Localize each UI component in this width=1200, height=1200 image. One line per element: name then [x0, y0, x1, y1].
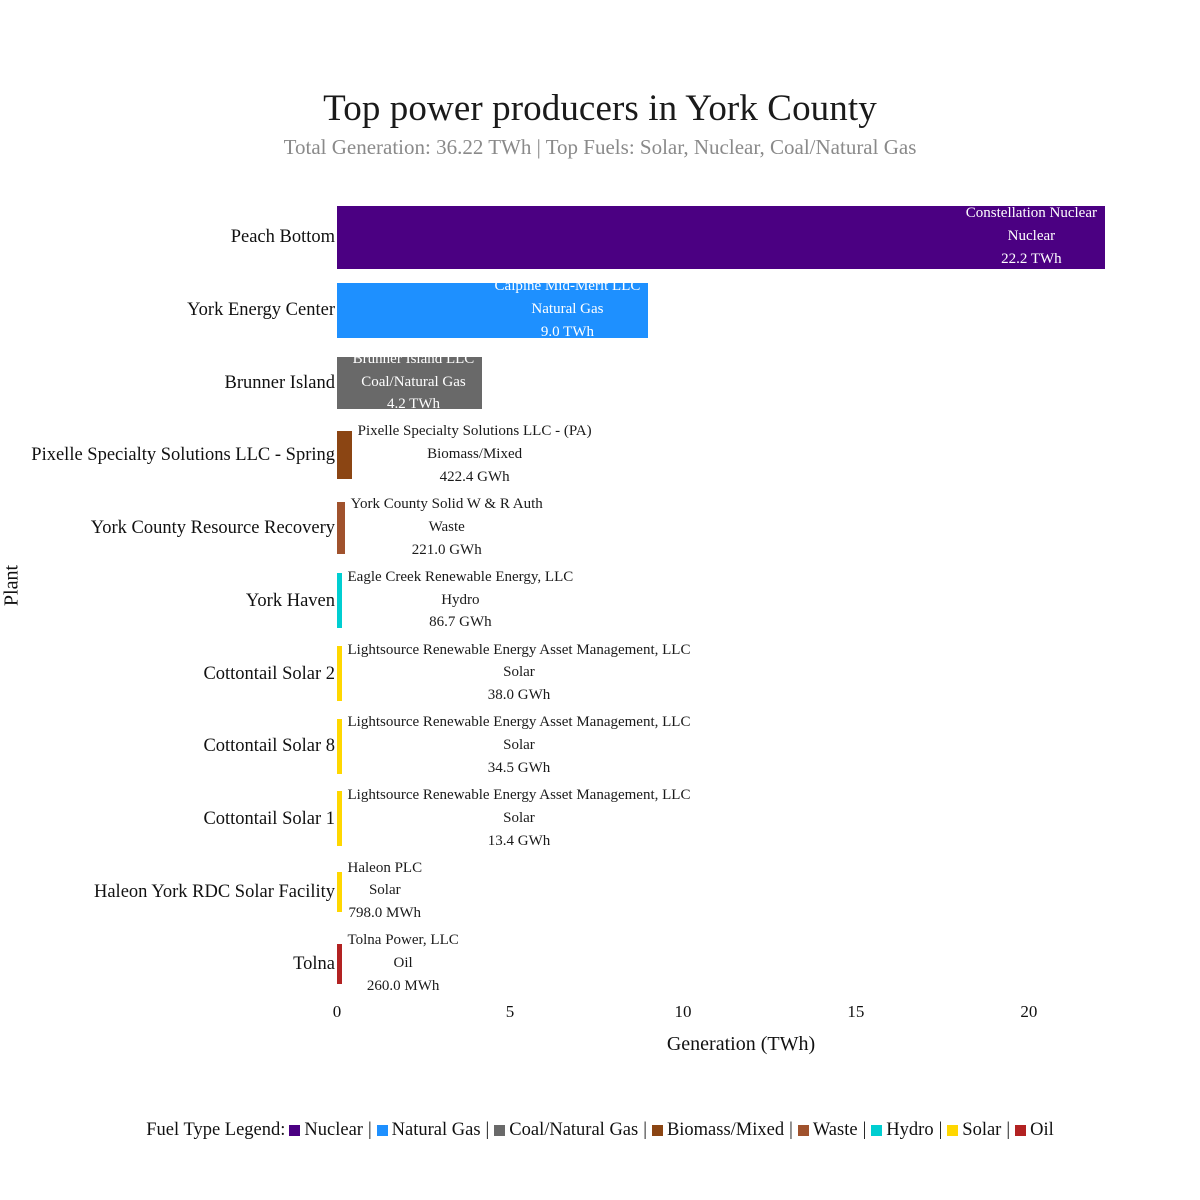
chart-bar[interactable] — [337, 206, 1105, 269]
bar-operator-label: Pixelle Specialty Solutions LLC - (PA) — [358, 420, 592, 443]
y-axis-title: Plant — [1, 556, 24, 616]
legend-item-biomass-mixed[interactable]: Biomass/Mixed — [652, 1120, 784, 1140]
x-axis-tick-label: 15 — [847, 1002, 864, 1022]
x-axis-tick-label: 10 — [674, 1002, 691, 1022]
chart-bar[interactable] — [337, 791, 342, 846]
legend-swatch-icon — [289, 1125, 300, 1136]
bar-annotation: Tolna Power, LLCOil260.0 MWh — [348, 929, 459, 997]
chart-plot-area: Peach BottomConstellation NuclearNuclear… — [0, 0, 1200, 1200]
bar-fuel-label: Solar — [348, 879, 423, 902]
chart-bar[interactable] — [337, 431, 352, 479]
legend-item-nuclear[interactable]: Nuclear — [289, 1120, 363, 1140]
bar-operator-label: York County Solid W & R Auth — [351, 493, 543, 516]
bar-operator-label: Tolna Power, LLC — [348, 929, 459, 952]
bar-value-label: 422.4 GWh — [358, 466, 592, 489]
legend-separator: | — [939, 1120, 943, 1140]
legend-item-label: Coal/Natural Gas — [509, 1120, 638, 1140]
bar-operator-label: Lightsource Renewable Energy Asset Manag… — [348, 711, 691, 734]
chart-bar[interactable] — [337, 944, 342, 984]
bar-fuel-label: Biomass/Mixed — [358, 443, 592, 466]
bar-annotation: Haleon PLCSolar798.0 MWh — [348, 857, 423, 925]
bar-fuel-label: Solar — [348, 734, 691, 757]
legend-item-natural-gas[interactable]: Natural Gas — [377, 1120, 481, 1140]
chart-bar[interactable] — [337, 719, 342, 774]
legend-separator: | — [789, 1120, 793, 1140]
y-axis-tick-label: York Energy Center — [187, 301, 335, 320]
legend-swatch-icon — [652, 1125, 663, 1136]
x-axis-title-text: Generation (TWh) — [667, 1033, 815, 1056]
bar-fuel-label: Oil — [348, 952, 459, 975]
bar-operator-label: Lightsource Renewable Energy Asset Manag… — [348, 639, 691, 662]
bar-annotation: Lightsource Renewable Energy Asset Manag… — [348, 711, 691, 779]
bar-operator-label: Eagle Creek Renewable Energy, LLC — [348, 566, 574, 589]
legend-item-oil[interactable]: Oil — [1015, 1120, 1054, 1140]
legend-swatch-icon — [377, 1125, 388, 1136]
chart-bar[interactable] — [337, 283, 648, 338]
bar-operator-label: Haleon PLC — [348, 857, 423, 880]
y-axis-tick-label: Brunner Island — [225, 374, 335, 393]
y-axis-tick-label: Haleon York RDC Solar Facility — [94, 883, 335, 902]
legend-item-hydro[interactable]: Hydro — [871, 1120, 933, 1140]
legend-title: Fuel Type Legend: — [146, 1120, 285, 1140]
x-axis-title: Generation (TWh) — [0, 1033, 1200, 1056]
chart-bar[interactable] — [337, 872, 342, 912]
legend-item-label: Nuclear — [304, 1120, 363, 1140]
chart-bar[interactable] — [337, 573, 342, 628]
legend-separator: | — [1006, 1120, 1010, 1140]
legend-item-coal-natural-gas[interactable]: Coal/Natural Gas — [494, 1120, 638, 1140]
y-axis-tick-label: Peach Bottom — [231, 228, 335, 247]
bar-annotation: Lightsource Renewable Energy Asset Manag… — [348, 784, 691, 852]
legend-item-solar[interactable]: Solar — [947, 1120, 1001, 1140]
x-axis-tick-label: 20 — [1020, 1002, 1037, 1022]
bar-value-label: 798.0 MWh — [348, 902, 423, 925]
legend-swatch-icon — [798, 1125, 809, 1136]
legend-swatch-icon — [947, 1125, 958, 1136]
legend-item-label: Solar — [962, 1120, 1001, 1140]
legend-item-label: Waste — [813, 1120, 858, 1140]
bar-value-label: 221.0 GWh — [351, 539, 543, 562]
y-axis-tick-label: Cottontail Solar 8 — [203, 737, 335, 756]
bar-value-label: 260.0 MWh — [348, 975, 459, 998]
bar-fuel-label: Solar — [348, 661, 691, 684]
chart-bar[interactable] — [337, 357, 482, 409]
legend-separator: | — [863, 1120, 867, 1140]
legend-item-label: Natural Gas — [392, 1120, 481, 1140]
y-axis-tick-label: Pixelle Specialty Solutions LLC - Spring — [31, 446, 335, 465]
bar-value-label: 13.4 GWh — [348, 830, 691, 853]
y-axis-tick-label: York Haven — [246, 592, 335, 611]
bar-annotation: Pixelle Specialty Solutions LLC - (PA)Bi… — [358, 420, 592, 488]
bar-fuel-label: Hydro — [348, 589, 574, 612]
x-axis-tick-label: 0 — [333, 1002, 342, 1022]
bar-value-label: 38.0 GWh — [348, 684, 691, 707]
bar-value-label: 34.5 GWh — [348, 757, 691, 780]
bar-operator-label: Lightsource Renewable Energy Asset Manag… — [348, 784, 691, 807]
y-axis-tick-label: York County Resource Recovery — [91, 519, 335, 538]
x-axis-tick-label: 5 — [506, 1002, 515, 1022]
bar-fuel-label: Waste — [351, 516, 543, 539]
legend-swatch-icon — [1015, 1125, 1026, 1136]
legend-item-label: Oil — [1030, 1120, 1054, 1140]
bar-annotation: York County Solid W & R AuthWaste221.0 G… — [351, 493, 543, 561]
chart-bar[interactable] — [337, 646, 342, 701]
bar-annotation: Eagle Creek Renewable Energy, LLCHydro86… — [348, 566, 574, 634]
legend-separator: | — [643, 1120, 647, 1140]
fuel-type-legend: Fuel Type Legend:Nuclear|Natural Gas|Coa… — [0, 1120, 1200, 1141]
legend-separator: | — [368, 1120, 372, 1140]
legend-swatch-icon — [871, 1125, 882, 1136]
legend-item-waste[interactable]: Waste — [798, 1120, 858, 1140]
y-axis-tick-label: Cottontail Solar 2 — [203, 665, 335, 684]
legend-item-label: Biomass/Mixed — [667, 1120, 784, 1140]
bar-fuel-label: Solar — [348, 807, 691, 830]
bar-value-label: 86.7 GWh — [348, 611, 574, 634]
legend-item-label: Hydro — [886, 1120, 933, 1140]
y-axis-tick-label: Tolna — [293, 955, 335, 974]
legend-separator: | — [486, 1120, 490, 1140]
bar-annotation: Lightsource Renewable Energy Asset Manag… — [348, 639, 691, 707]
chart-bar[interactable] — [337, 502, 345, 554]
y-axis-tick-label: Cottontail Solar 1 — [203, 810, 335, 829]
legend-swatch-icon — [494, 1125, 505, 1136]
